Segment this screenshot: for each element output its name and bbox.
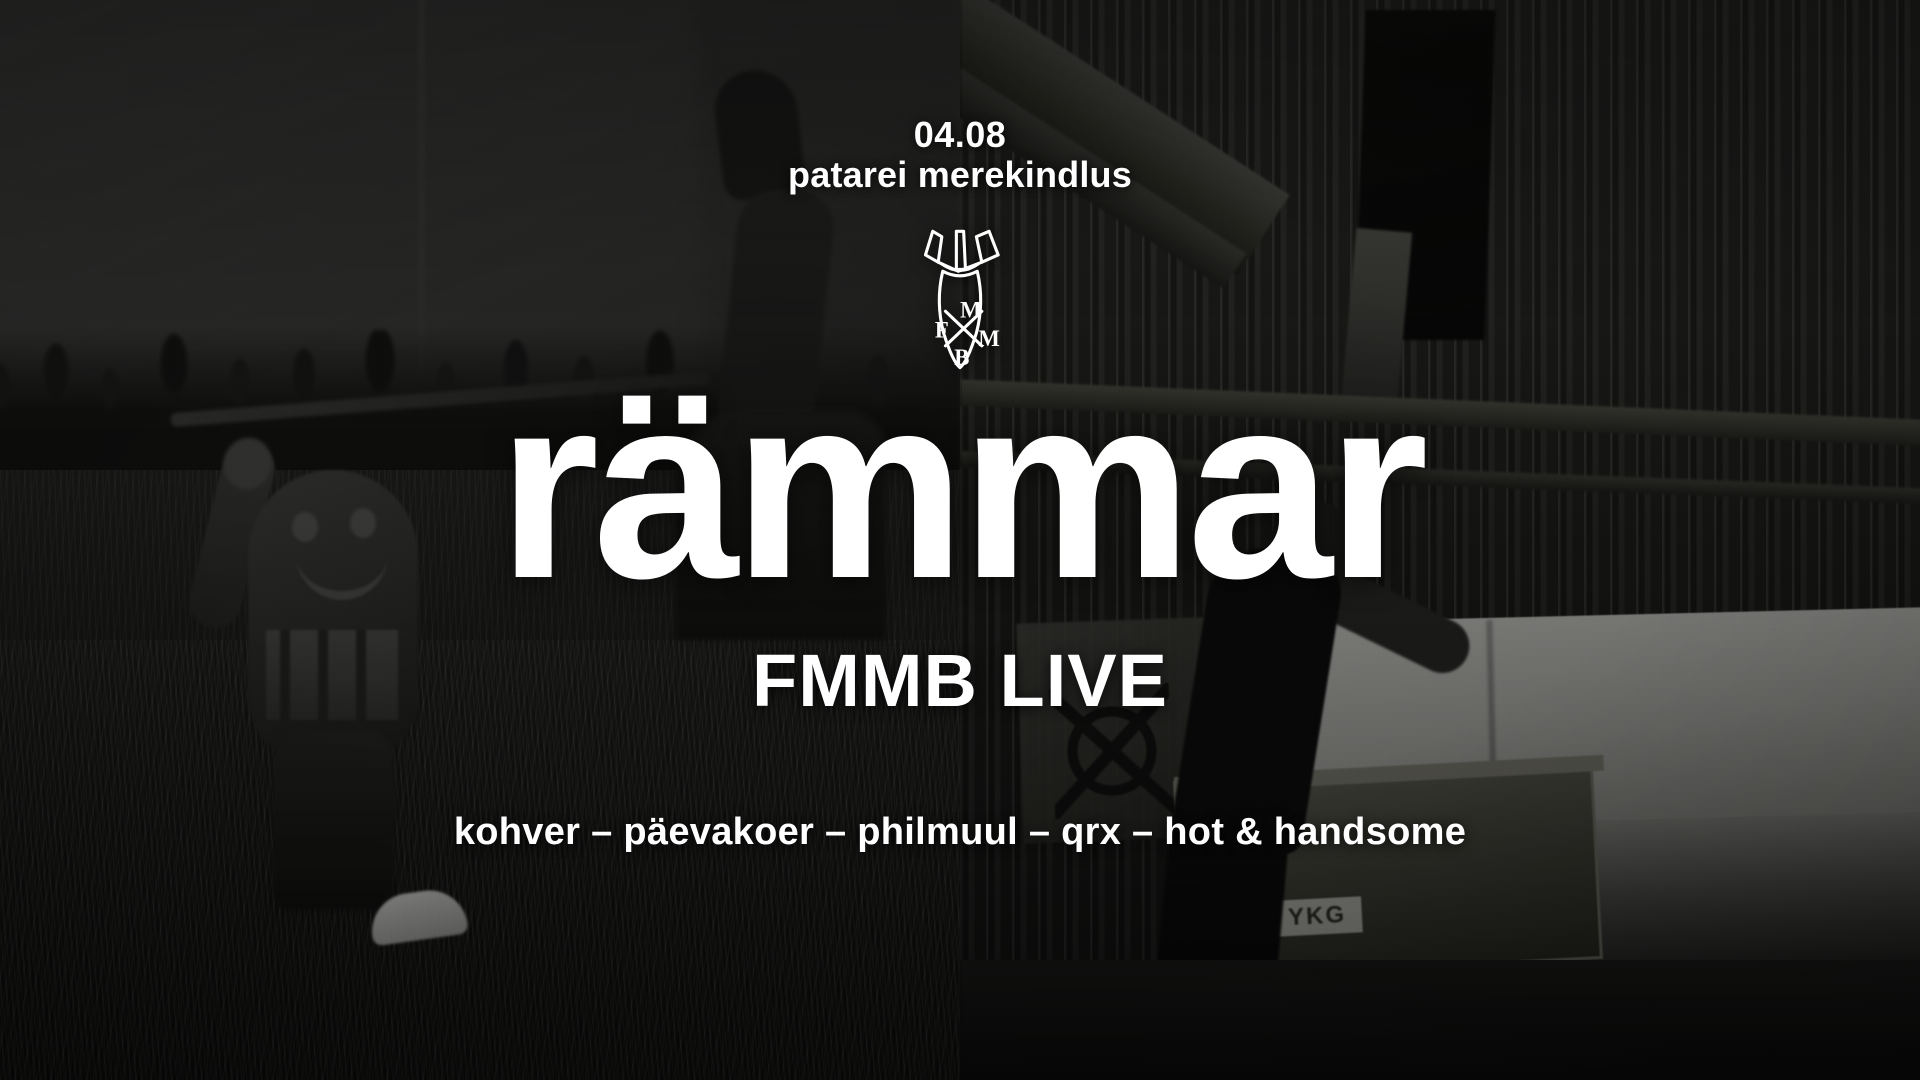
event-venue: patarei merekindlus xyxy=(788,155,1132,195)
event-subtitle: FMMB LIVE xyxy=(752,638,1168,723)
event-date: 04.08 xyxy=(788,115,1132,155)
page-title: rämmar xyxy=(497,380,1422,595)
logo-letter-b: B xyxy=(954,345,969,370)
event-poster: 665 YKG 04.08 patarei merekindlus xyxy=(0,0,1920,1080)
logo-letter-m-right: M xyxy=(978,325,999,350)
fmmb-bomb-logo: F M M B xyxy=(905,224,1015,374)
logo-letter-f: F xyxy=(935,317,949,342)
logo-letter-m-top: M xyxy=(960,297,981,322)
event-header: 04.08 patarei merekindlus xyxy=(788,115,1132,196)
poster-content: 04.08 patarei merekindlus xyxy=(0,0,1920,1080)
lineup-list: kohver – päevakoer – philmuul – qrx – ho… xyxy=(454,811,1466,854)
